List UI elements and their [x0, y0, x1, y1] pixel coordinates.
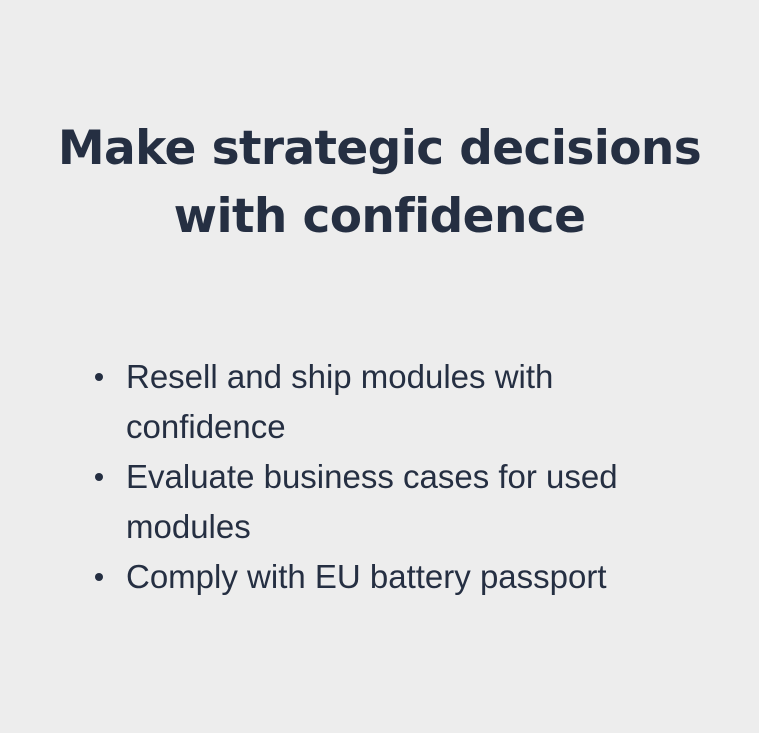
page-title: Make strategic decisions with confidence [0, 115, 759, 251]
list-item-label: Evaluate business cases for used modules [126, 458, 618, 545]
list-item-label: Comply with EU battery passport [126, 558, 607, 595]
bullet-dot-icon [95, 573, 103, 581]
feature-bullet-list: Resell and ship modules with confidence … [92, 352, 692, 602]
slide-container: Make strategic decisions with confidence… [0, 0, 759, 733]
bullet-dot-icon [95, 373, 103, 381]
list-item: Evaluate business cases for used modules [92, 452, 671, 552]
list-item: Resell and ship modules with confidence [92, 352, 671, 452]
bullet-dot-icon [95, 473, 103, 481]
list-item-label: Resell and ship modules with confidence [126, 358, 553, 445]
list-item: Comply with EU battery passport [92, 552, 671, 602]
